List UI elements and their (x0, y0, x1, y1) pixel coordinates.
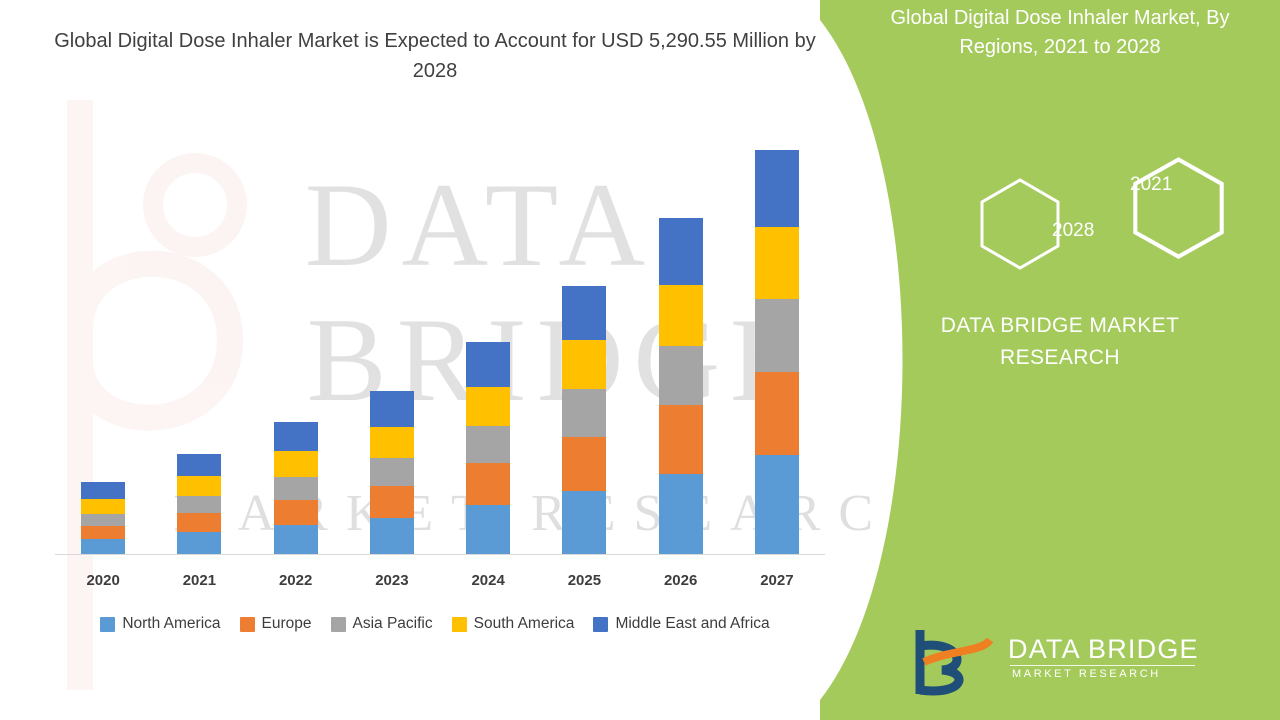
bar-segment (177, 454, 221, 476)
bar-segment (466, 342, 510, 387)
x-axis-label: 2026 (651, 572, 711, 589)
logo-main-text: DATA BRIDGE (1008, 634, 1199, 665)
x-axis-label: 2021 (169, 572, 229, 589)
bar-segment (274, 525, 318, 554)
bar-segment (81, 539, 125, 554)
bar-segment (274, 451, 318, 477)
bar-segment (562, 340, 606, 389)
legend-item[interactable]: Europe (240, 615, 312, 633)
panel-title: Global Digital Dose Inhaler Market, By R… (860, 4, 1260, 62)
x-axis-label: 2020 (73, 572, 133, 589)
bar-segment (562, 437, 606, 491)
infographic-root: DATA BRIDGE MARKET RESEARCH Global Digit… (0, 0, 1280, 720)
x-axis-label: 2023 (362, 572, 422, 589)
legend-label: Europe (262, 615, 312, 633)
bar-column (755, 150, 799, 554)
legend-item[interactable]: North America (100, 615, 220, 633)
brand-name: DATA BRIDGE MARKET RESEARCH (840, 310, 1280, 373)
brand-line-2: RESEARCH (840, 342, 1280, 374)
bar-column (466, 342, 510, 554)
legend-item[interactable]: Asia Pacific (331, 615, 433, 633)
bar-segment (177, 476, 221, 496)
data-bridge-logo-icon (890, 622, 1000, 702)
bar-column (177, 454, 221, 554)
logo-block: DATA BRIDGE MARKET RESEARCH (890, 622, 1220, 702)
bar-segment (274, 422, 318, 451)
bar-segment (659, 346, 703, 406)
bar-segment (370, 391, 414, 427)
bar-segment (659, 405, 703, 473)
x-axis-label: 2024 (458, 572, 518, 589)
bar-segment (466, 505, 510, 554)
bar-segment (370, 518, 414, 554)
bar-segment (466, 426, 510, 463)
hexagon-group: 2021 2028 (960, 140, 1260, 290)
bar-segment (562, 286, 606, 340)
right-panel: Global Digital Dose Inhaler Market, By R… (820, 0, 1280, 720)
logo-sub-text: MARKET RESEARCH (1012, 668, 1161, 680)
bar-segment (81, 514, 125, 526)
bar-column (370, 391, 414, 554)
legend-item[interactable]: Middle East and Africa (593, 615, 769, 633)
bar-segment (466, 387, 510, 426)
logo-divider (1010, 665, 1195, 666)
bar-segment (370, 486, 414, 518)
bar-column (562, 286, 606, 554)
bar-segment (562, 491, 606, 554)
chart-legend: North AmericaEuropeAsia PacificSouth Ame… (40, 615, 840, 633)
x-axis-label: 2022 (266, 572, 326, 589)
bar-segment (466, 463, 510, 505)
bar-segment (81, 526, 125, 539)
legend-swatch-icon (452, 617, 467, 632)
bar-segment (177, 496, 221, 513)
chart-area: Global Digital Dose Inhaler Market is Ex… (0, 0, 860, 720)
bar-segment (177, 513, 221, 532)
legend-item[interactable]: South America (452, 615, 575, 633)
legend-label: Asia Pacific (353, 615, 433, 633)
bar-segment (755, 372, 799, 456)
bar-segment (755, 299, 799, 371)
plot-region (55, 150, 825, 555)
bar-segment (370, 427, 414, 458)
bar-column (274, 422, 318, 554)
legend-label: North America (122, 615, 220, 633)
bar-column (659, 218, 703, 554)
bar-segment (755, 150, 799, 227)
bar-segment (562, 389, 606, 437)
legend-swatch-icon (240, 617, 255, 632)
bar-segment (81, 482, 125, 499)
bar-segment (659, 218, 703, 285)
bar-segment (659, 285, 703, 346)
x-axis-label: 2025 (554, 572, 614, 589)
x-axis-label: 2027 (747, 572, 807, 589)
legend-label: Middle East and Africa (615, 615, 769, 633)
bar-segment (81, 499, 125, 514)
bar-segment (370, 458, 414, 486)
legend-swatch-icon (100, 617, 115, 632)
chart-title: Global Digital Dose Inhaler Market is Ex… (40, 26, 830, 86)
bar-segment (274, 477, 318, 499)
legend-swatch-icon (593, 617, 608, 632)
x-axis-line (55, 554, 825, 555)
bar-segment (755, 455, 799, 554)
bar-column (81, 482, 125, 554)
legend-label: South America (474, 615, 575, 633)
bar-segment (274, 500, 318, 525)
x-axis-labels: 20202021202220232024202520262027 (55, 572, 825, 589)
brand-line-1: DATA BRIDGE MARKET (840, 310, 1280, 342)
bar-segment (659, 474, 703, 555)
stacked-bars (55, 150, 825, 554)
bar-segment (755, 227, 799, 299)
legend-swatch-icon (331, 617, 346, 632)
bar-segment (177, 532, 221, 554)
